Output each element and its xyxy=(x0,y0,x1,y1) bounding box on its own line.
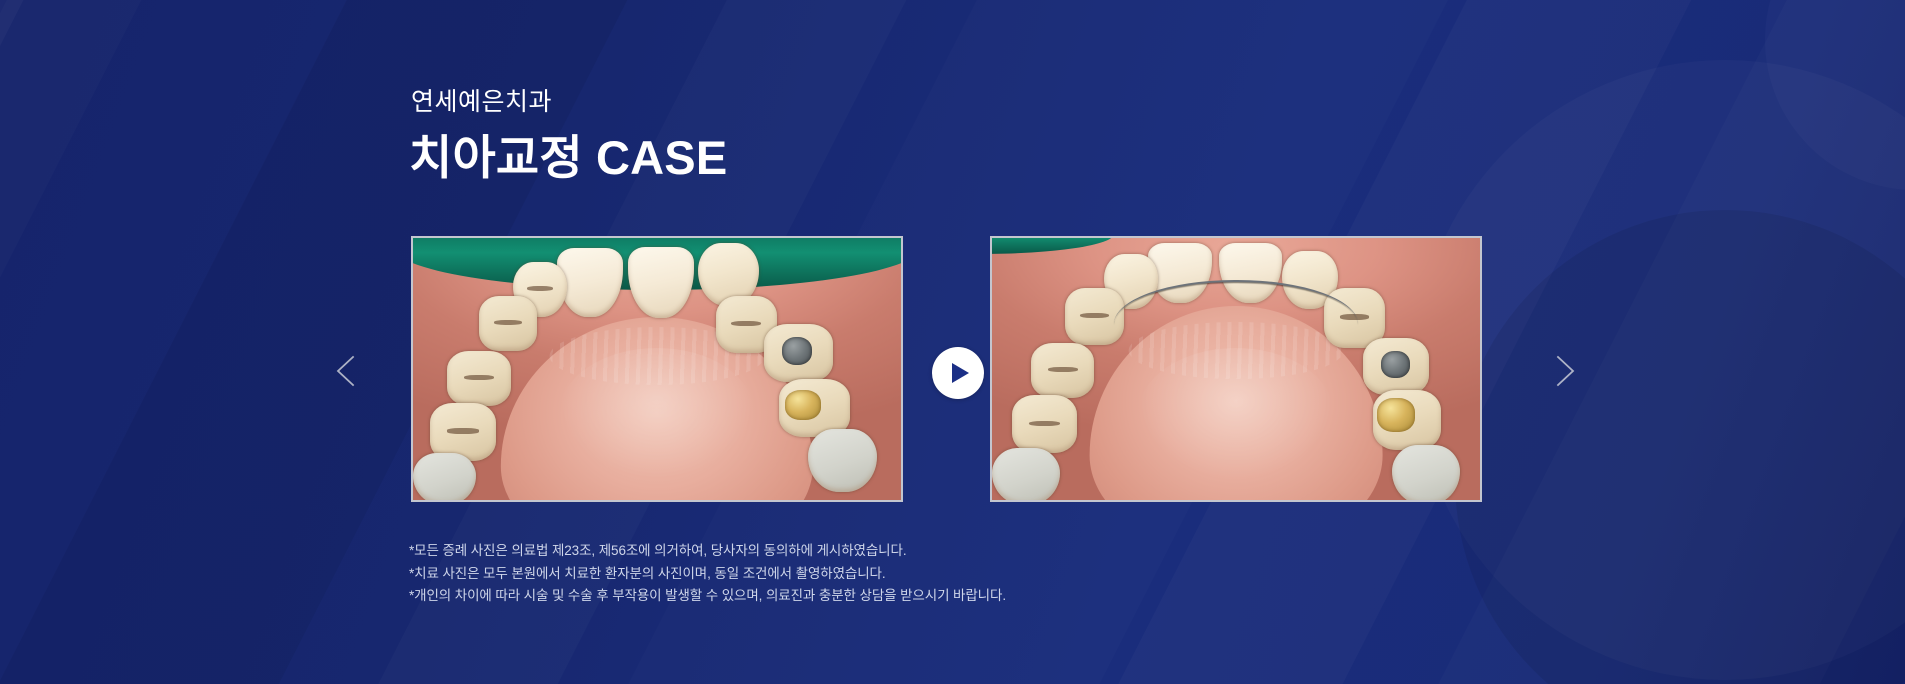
disclaimer-line-2: *치료 사진은 모두 본원에서 치료한 환자분의 사진이며, 동일 조건에서 촬… xyxy=(409,563,1006,586)
case-slider-banner: 연세예은치과 치아교정 CASE xyxy=(0,0,1905,684)
page-title: 치아교정 CASE xyxy=(409,132,727,185)
bg-diagonal-band xyxy=(0,0,127,684)
bg-circle-decoration xyxy=(1765,0,1905,190)
disclaimer: *모든 증례 사진은 의료법 제23조, 제56조에 의거하여, 당사자의 동의… xyxy=(409,540,1006,608)
disclaimer-line-3: *개인의 차이에 따라 시술 및 수술 후 부작용이 발생할 수 있으며, 의료… xyxy=(409,585,1006,608)
chevron-left-icon xyxy=(325,348,371,394)
play-icon xyxy=(952,363,969,383)
before-photo-image xyxy=(413,238,901,500)
bg-diagonal-band xyxy=(0,0,287,684)
bg-circle-decoration xyxy=(1455,210,1905,684)
play-button[interactable] xyxy=(932,347,984,399)
after-photo[interactable] xyxy=(990,236,1482,502)
prev-slide-button[interactable] xyxy=(325,348,371,394)
bg-circle-decoration xyxy=(1415,60,1905,680)
before-photo[interactable] xyxy=(411,236,903,502)
clinic-name: 연세예은치과 xyxy=(411,87,552,117)
next-slide-button[interactable] xyxy=(1540,348,1586,394)
after-photo-image xyxy=(992,238,1480,500)
chevron-right-icon xyxy=(1540,348,1586,394)
disclaimer-line-1: *모든 증례 사진은 의료법 제23조, 제56조에 의거하여, 당사자의 동의… xyxy=(409,540,1006,563)
